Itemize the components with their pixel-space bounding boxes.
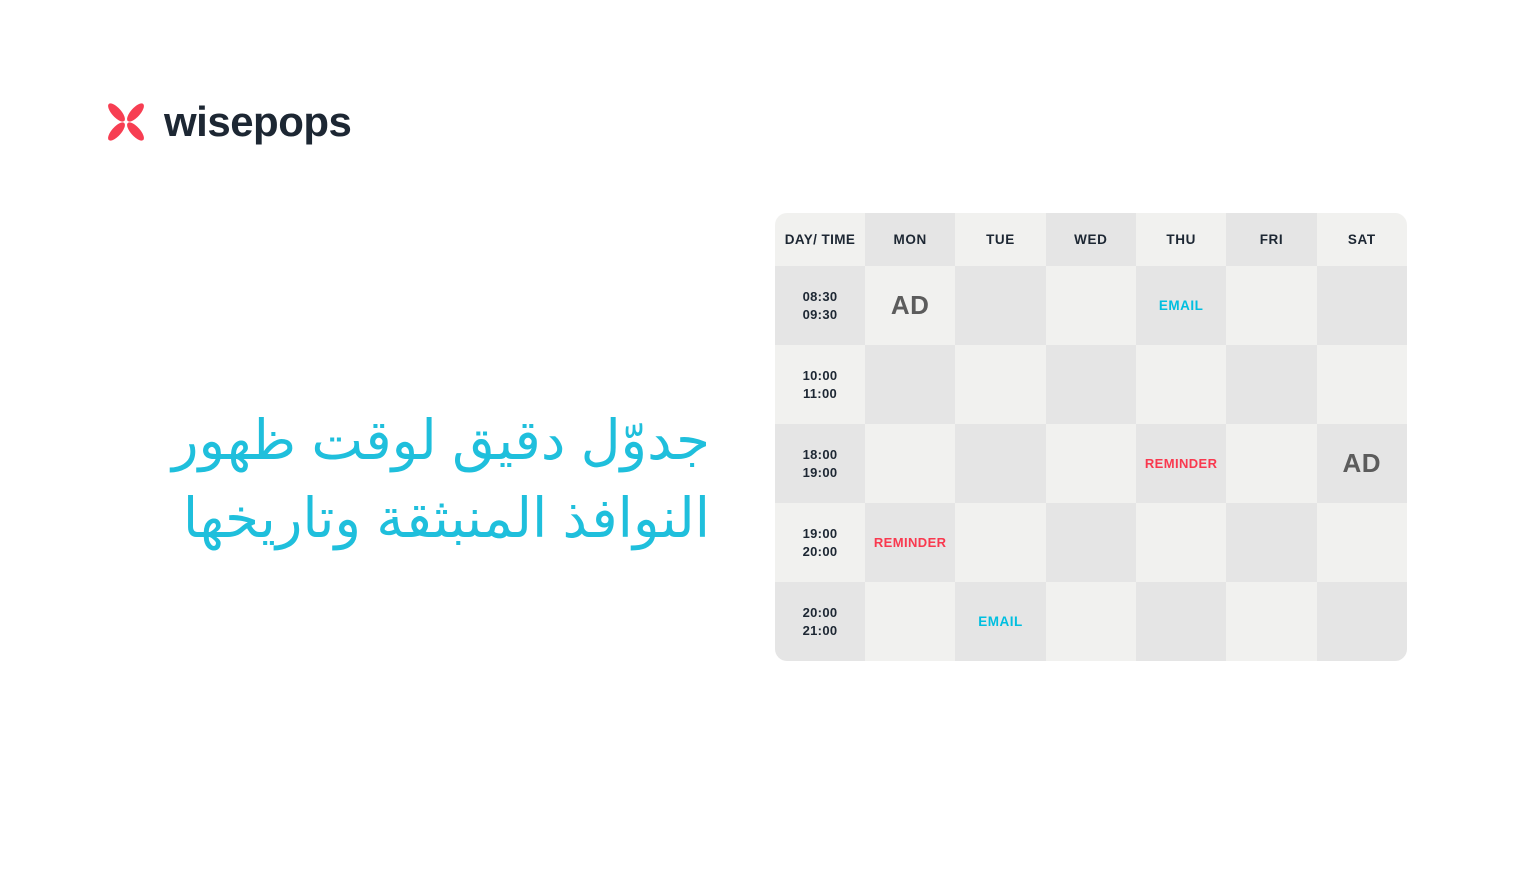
schedule-cell-thu[interactable]: EMAIL xyxy=(1136,266,1226,345)
time-slot-start: 18:00 xyxy=(803,446,838,464)
schedule-body: 08:3009:30ADEMAIL10:0011:0018:0019:00REM… xyxy=(775,266,1407,661)
time-slot-end: 20:00 xyxy=(803,543,838,561)
schedule-cell-thu[interactable] xyxy=(1136,582,1226,661)
schedule-cell-wed[interactable] xyxy=(1046,424,1136,503)
schedule-cell-wed[interactable] xyxy=(1046,266,1136,345)
schedule-table: DAY/ TIMEMONTUEWEDTHUFRISAT 08:3009:30AD… xyxy=(775,213,1407,661)
schedule-cell-mon[interactable] xyxy=(865,424,955,503)
time-slot-end: 19:00 xyxy=(803,464,838,482)
brand-logo[interactable]: wisepops xyxy=(102,98,351,146)
schedule-cell-thu[interactable] xyxy=(1136,345,1226,424)
time-slot-end: 11:00 xyxy=(803,385,837,403)
schedule-cell-wed[interactable] xyxy=(1046,582,1136,661)
schedule-event-ad: AD xyxy=(1343,448,1382,479)
schedule-cell-thu[interactable]: REMINDER xyxy=(1136,424,1226,503)
brand-wordmark: wisepops xyxy=(164,101,351,143)
time-slot-cell: 08:3009:30 xyxy=(775,266,865,345)
column-header-mon: MON xyxy=(865,213,955,266)
schedule-cell-mon[interactable] xyxy=(865,345,955,424)
schedule-cell-thu[interactable] xyxy=(1136,503,1226,582)
time-slot-start: 19:00 xyxy=(803,525,838,543)
schedule-cell-mon[interactable] xyxy=(865,582,955,661)
schedule-row: 19:0020:00REMINDER xyxy=(775,503,1407,582)
time-slot-cell: 19:0020:00 xyxy=(775,503,865,582)
schedule-row: 10:0011:00 xyxy=(775,345,1407,424)
column-header-tue: TUE xyxy=(955,213,1045,266)
column-header-wed: WED xyxy=(1046,213,1136,266)
schedule-cell-fri[interactable] xyxy=(1226,424,1316,503)
schedule-row: 20:0021:00EMAIL xyxy=(775,582,1407,661)
column-header-daytime: DAY/ TIME xyxy=(775,213,865,266)
schedule-cell-fri[interactable] xyxy=(1226,266,1316,345)
schedule-cell-tue[interactable] xyxy=(955,503,1045,582)
schedule-cell-fri[interactable] xyxy=(1226,503,1316,582)
schedule-cell-tue[interactable] xyxy=(955,266,1045,345)
schedule-event-reminder: REMINDER xyxy=(874,535,947,550)
time-slot-cell: 10:0011:00 xyxy=(775,345,865,424)
schedule-cell-sat[interactable] xyxy=(1317,503,1407,582)
schedule-row: 18:0019:00REMINDERAD xyxy=(775,424,1407,503)
time-slot-start: 10:00 xyxy=(803,367,838,385)
column-header-fri: FRI xyxy=(1226,213,1316,266)
wisepops-four-petal-icon xyxy=(102,98,150,146)
schedule-cell-tue[interactable]: EMAIL xyxy=(955,582,1045,661)
schedule-event-ad: AD xyxy=(891,290,930,321)
column-header-sat: SAT xyxy=(1317,213,1407,266)
schedule-cell-tue[interactable] xyxy=(955,345,1045,424)
time-slot-cell: 18:0019:00 xyxy=(775,424,865,503)
time-slot-cell: 20:0021:00 xyxy=(775,582,865,661)
time-slot-start: 20:00 xyxy=(803,604,838,622)
schedule-cell-wed[interactable] xyxy=(1046,503,1136,582)
schedule-cell-wed[interactable] xyxy=(1046,345,1136,424)
time-slot-end: 09:30 xyxy=(803,306,838,324)
schedule-cell-fri[interactable] xyxy=(1226,345,1316,424)
schedule-event-email: EMAIL xyxy=(1159,298,1204,313)
schedule-cell-sat[interactable] xyxy=(1317,345,1407,424)
time-slot-start: 08:30 xyxy=(803,288,838,306)
column-header-thu: THU xyxy=(1136,213,1226,266)
schedule-cell-sat[interactable] xyxy=(1317,582,1407,661)
schedule-header-row: DAY/ TIMEMONTUEWEDTHUFRISAT xyxy=(775,213,1407,266)
schedule-cell-mon[interactable]: AD xyxy=(865,266,955,345)
schedule-cell-fri[interactable] xyxy=(1226,582,1316,661)
schedule-cell-mon[interactable]: REMINDER xyxy=(865,503,955,582)
schedule-cell-sat[interactable] xyxy=(1317,266,1407,345)
schedule-event-email: EMAIL xyxy=(978,614,1023,629)
schedule-event-reminder: REMINDER xyxy=(1145,456,1218,471)
schedule-cell-sat[interactable]: AD xyxy=(1317,424,1407,503)
schedule-row: 08:3009:30ADEMAIL xyxy=(775,266,1407,345)
time-slot-end: 21:00 xyxy=(803,622,838,640)
schedule-cell-tue[interactable] xyxy=(955,424,1045,503)
page-title: جدوّل دقيق لوقت ظهور النوافذ المنبثقة وت… xyxy=(102,401,710,557)
